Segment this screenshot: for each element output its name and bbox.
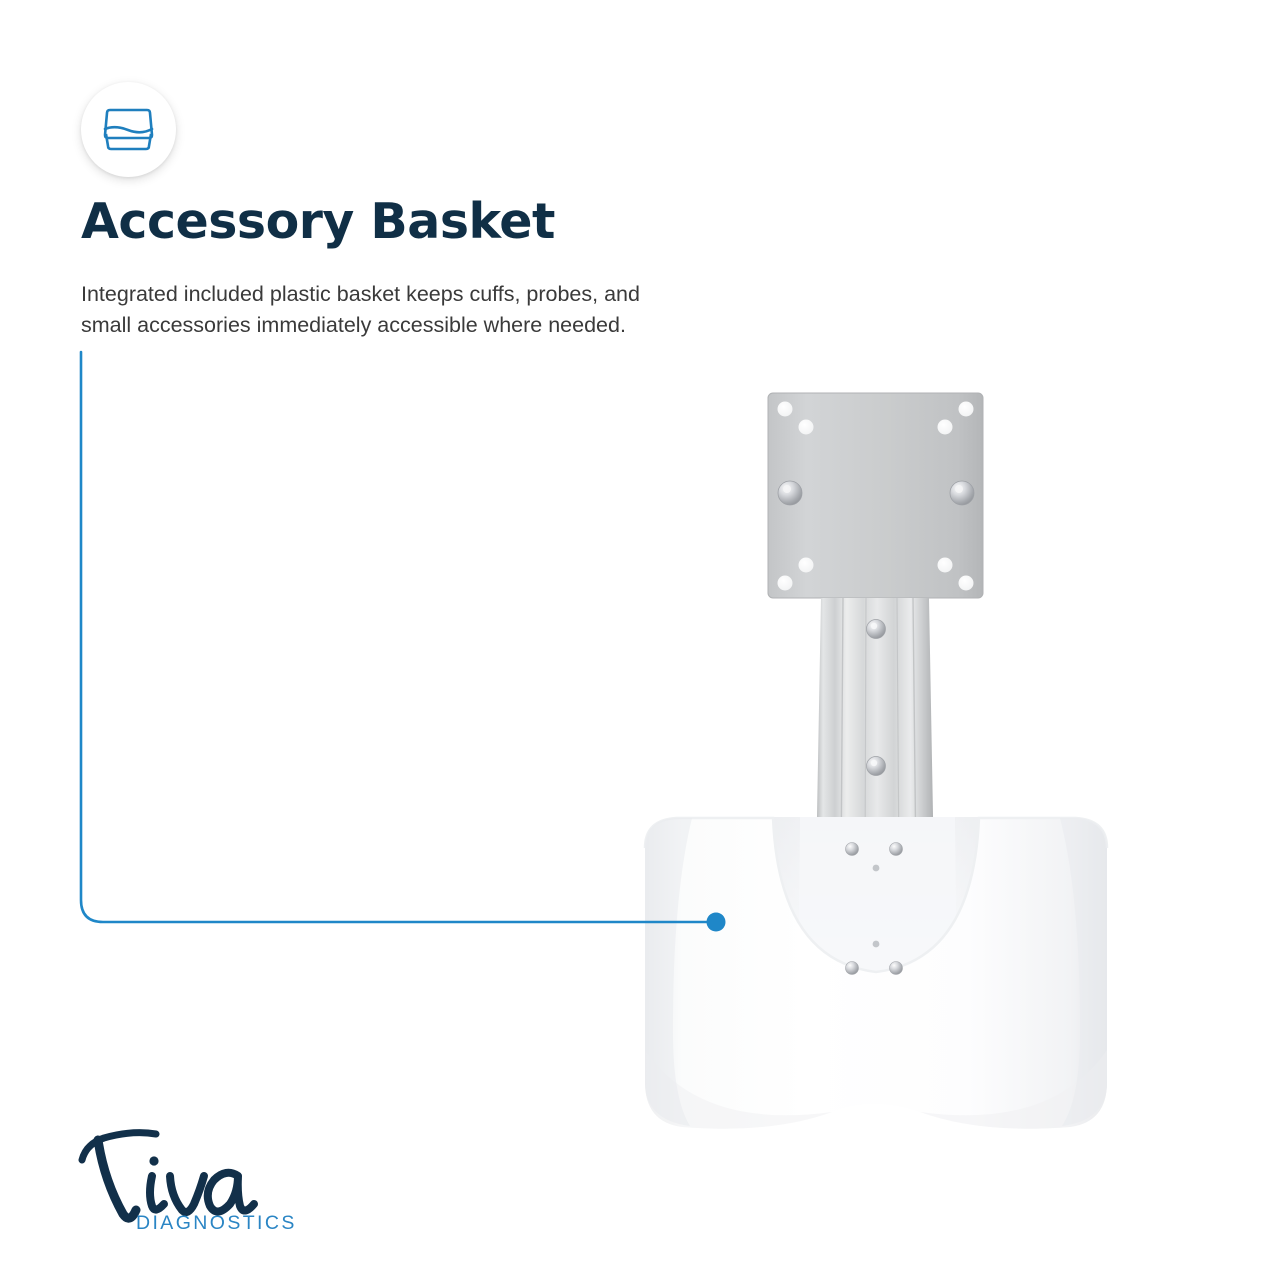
viva-diagnostics-logo: DIAGNOSTICS [78, 1128, 338, 1248]
chrome-screw [950, 481, 974, 505]
chrome-screw [867, 620, 886, 639]
vesa-plate [768, 393, 983, 598]
basket-icon [81, 82, 176, 177]
logo-tagline: DIAGNOSTICS [136, 1212, 297, 1234]
page-title: Accessory Basket [81, 196, 555, 247]
chrome-screw [778, 481, 802, 505]
feature-description-line-2: small accessories immediately accessible… [81, 310, 781, 341]
feature-icon-badge [81, 82, 176, 177]
feature-description-line-1: Integrated included plastic basket keeps… [81, 279, 781, 310]
viva-wordmark [82, 1133, 254, 1219]
feature-description: Integrated included plastic basket keeps… [81, 279, 781, 340]
plastic-basket [645, 817, 1107, 1129]
product-image [0, 0, 1280, 1280]
chrome-screw [867, 757, 886, 776]
